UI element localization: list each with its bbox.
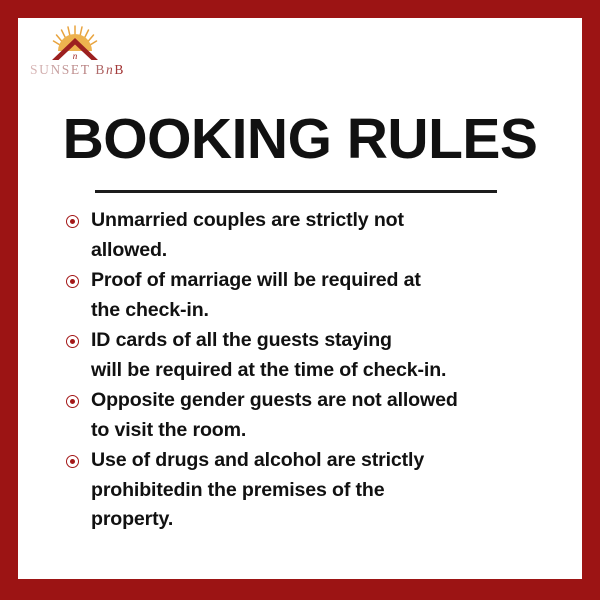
booking-rules-poster: n SUNSET BnB BOOKING RULES Unmarried cou… — [0, 0, 600, 600]
list-item: Use of drugs and alcohol are strictly pr… — [66, 446, 564, 535]
list-item: Proof of marriage will be required at th… — [66, 266, 564, 325]
rule-line: Use of drugs and alcohol are strictly — [91, 446, 424, 476]
bullseye-bullet-icon — [66, 395, 79, 408]
list-item: Unmarried couples are strictly not allow… — [66, 206, 564, 265]
rule-text: Use of drugs and alcohol are strictly pr… — [91, 446, 424, 535]
brand-name-main: SUNSET B — [30, 62, 106, 77]
rule-text: Unmarried couples are strictly not allow… — [91, 206, 404, 265]
brand-name: SUNSET BnB — [30, 62, 150, 78]
sunset-house-icon: n — [44, 24, 106, 66]
bullseye-bullet-icon — [66, 215, 79, 228]
brand-name-end: B — [114, 62, 125, 77]
rule-text: Proof of marriage will be required at th… — [91, 266, 421, 325]
rule-line: Unmarried couples are strictly not — [91, 206, 404, 236]
title-divider — [95, 190, 497, 193]
brand-logo: n SUNSET BnB — [30, 22, 160, 94]
rule-line: prohibitedin the premises of the — [91, 476, 424, 506]
rule-line: the check-in. — [91, 296, 421, 326]
rule-line: property. — [91, 505, 424, 535]
rule-line: allowed. — [91, 236, 404, 266]
page-title: BOOKING RULES — [18, 110, 582, 170]
bullseye-bullet-icon — [66, 275, 79, 288]
list-item: Opposite gender guests are not allowed t… — [66, 386, 564, 445]
svg-text:n: n — [73, 51, 78, 61]
rule-line: ID cards of all the guests staying — [91, 326, 446, 356]
rule-line: Proof of marriage will be required at — [91, 266, 421, 296]
rule-text: ID cards of all the guests staying will … — [91, 326, 446, 385]
rule-line: to visit the room. — [91, 416, 458, 446]
rule-line: will be required at the time of check-in… — [91, 356, 446, 386]
rules-list: Unmarried couples are strictly not allow… — [66, 206, 564, 536]
list-item: ID cards of all the guests staying will … — [66, 326, 564, 385]
rule-line: Opposite gender guests are not allowed — [91, 386, 458, 416]
bullseye-bullet-icon — [66, 335, 79, 348]
bullseye-bullet-icon — [66, 455, 79, 468]
poster-inner-card: n SUNSET BnB BOOKING RULES Unmarried cou… — [18, 18, 582, 579]
rule-text: Opposite gender guests are not allowed t… — [91, 386, 458, 445]
